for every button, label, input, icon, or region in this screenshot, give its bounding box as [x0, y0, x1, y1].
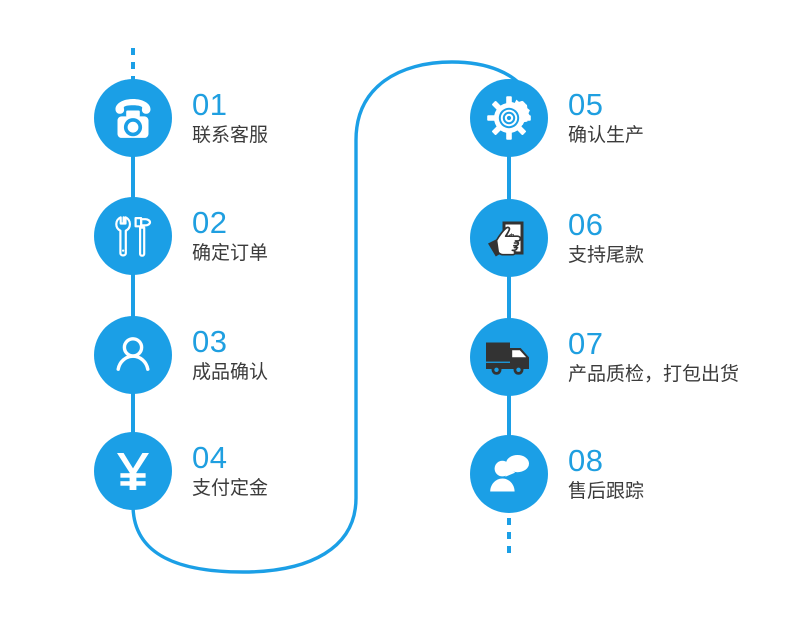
step-item-05[interactable]: 05 确认生产 — [470, 79, 644, 157]
customer-support-icon — [485, 451, 533, 497]
step-text-07: 07 产品质检，打包出货 — [568, 327, 739, 387]
process-flow-diagram: 01 联系客服 02 确定订单 — [0, 0, 790, 619]
step-badge-08[interactable] — [470, 435, 548, 513]
step-label: 支付定金 — [192, 475, 268, 501]
step-item-07[interactable]: 07 产品质检，打包出货 — [470, 318, 739, 396]
person-outline-icon — [110, 332, 156, 378]
step-label: 支持尾款 — [568, 242, 644, 268]
hand-cash-icon: $ — [485, 214, 533, 262]
telephone-icon — [109, 96, 157, 140]
step-number: 05 — [568, 88, 644, 121]
step-text-01: 01 联系客服 — [192, 88, 268, 148]
step-item-02[interactable]: 02 确定订单 — [94, 197, 268, 275]
wrench-hammer-icon — [110, 213, 156, 259]
step-item-03[interactable]: 03 成品确认 — [94, 316, 268, 394]
step-badge-04[interactable] — [94, 432, 172, 510]
step-text-05: 05 确认生产 — [568, 88, 644, 148]
step-item-08[interactable]: 08 售后跟踪 — [470, 435, 644, 513]
step-text-04: 04 支付定金 — [192, 441, 268, 501]
step-badge-06[interactable]: $ — [470, 199, 548, 277]
step-badge-01[interactable] — [94, 79, 172, 157]
step-number: 04 — [192, 441, 268, 474]
step-badge-03[interactable] — [94, 316, 172, 394]
step-text-08: 08 售后跟踪 — [568, 444, 644, 504]
step-number: 02 — [192, 206, 268, 239]
yen-icon — [111, 448, 155, 494]
step-item-04[interactable]: 04 支付定金 — [94, 432, 268, 510]
step-label: 确定订单 — [192, 240, 268, 266]
step-label: 售后跟踪 — [568, 478, 644, 504]
step-text-06: 06 支持尾款 — [568, 208, 644, 268]
gear-icon — [486, 95, 532, 141]
step-number: 03 — [192, 325, 268, 358]
step-label: 联系客服 — [192, 122, 268, 148]
step-number: 08 — [568, 444, 644, 477]
step-number: 06 — [568, 208, 644, 241]
step-number: 01 — [192, 88, 268, 121]
step-text-02: 02 确定订单 — [192, 206, 268, 266]
step-badge-02[interactable] — [94, 197, 172, 275]
step-badge-05[interactable] — [470, 79, 548, 157]
step-label: 确认生产 — [568, 122, 644, 148]
step-badge-07[interactable] — [470, 318, 548, 396]
step-label: 成品确认 — [192, 359, 268, 385]
step-number: 07 — [568, 327, 739, 360]
step-label: 产品质检，打包出货 — [568, 361, 739, 387]
step-item-06[interactable]: $ 06 支持尾款 — [470, 199, 644, 277]
step-text-03: 03 成品确认 — [192, 325, 268, 385]
truck-icon — [483, 335, 535, 379]
step-item-01[interactable]: 01 联系客服 — [94, 79, 268, 157]
